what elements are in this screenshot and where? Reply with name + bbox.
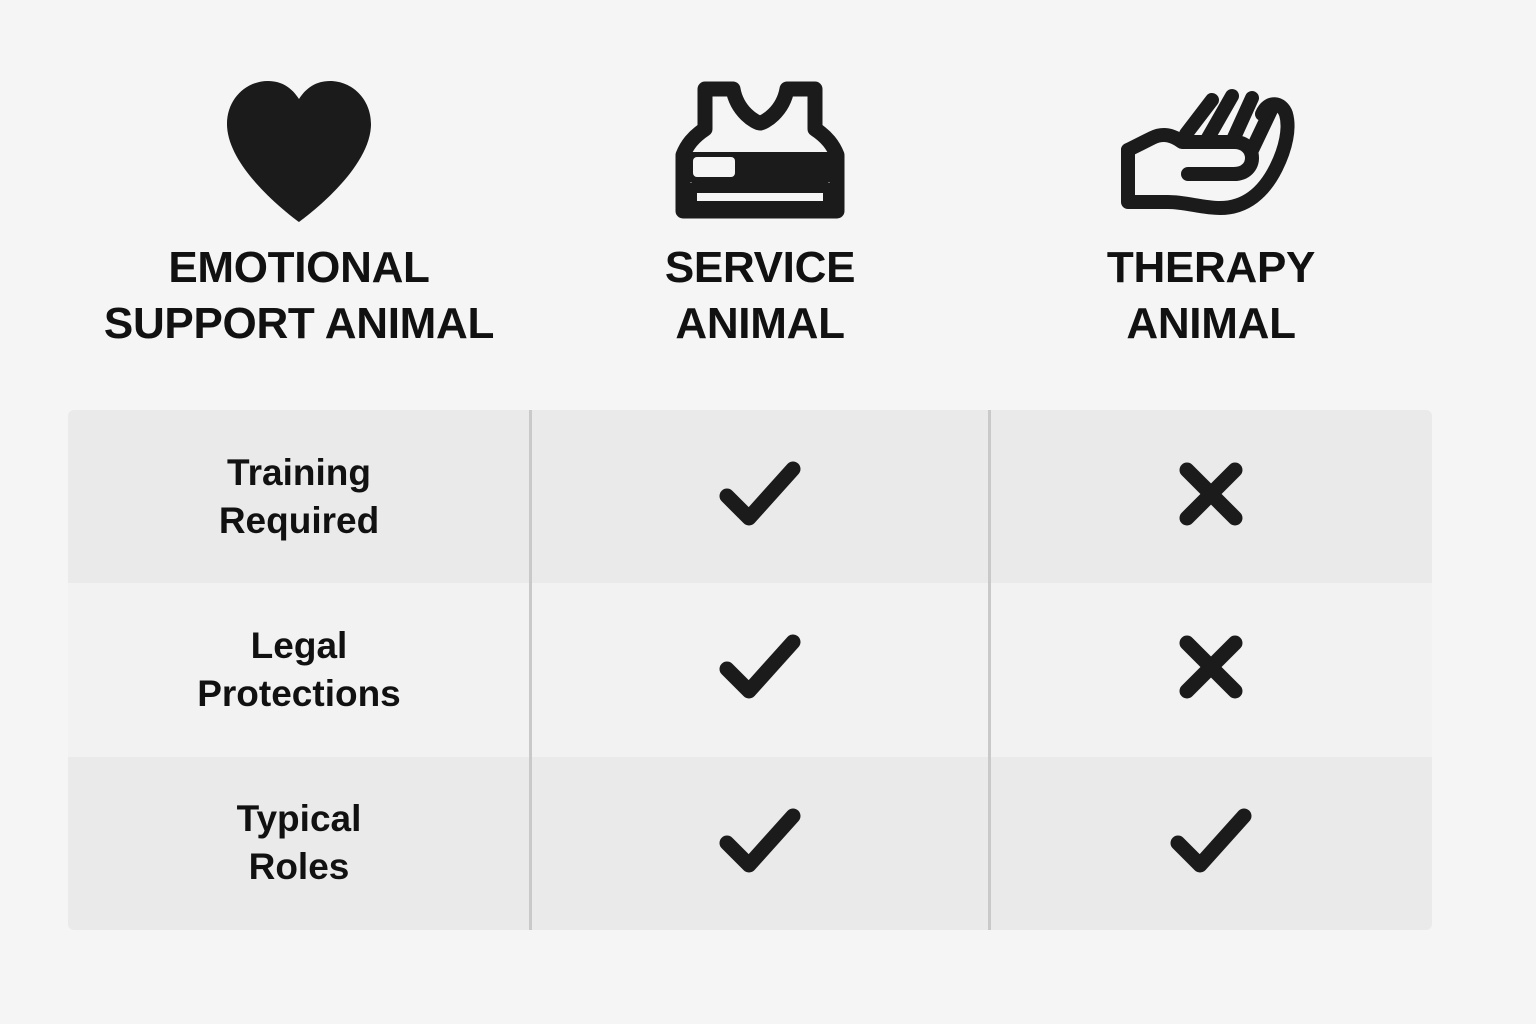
check-icon bbox=[718, 458, 802, 535]
table-row: Typical Roles bbox=[68, 757, 1432, 930]
row-label-line1: Typical bbox=[237, 795, 362, 843]
column-title-line2: SUPPORT ANIMAL bbox=[104, 296, 494, 352]
comparison-table: Training Required bbox=[68, 410, 1432, 930]
column-header-emotional-support-animal: EMOTIONAL SUPPORT ANIMAL bbox=[68, 60, 530, 390]
row-label-legal-protections: Legal Protections bbox=[68, 583, 530, 756]
table-row: Training Required bbox=[68, 410, 1432, 583]
helping-hand-icon bbox=[1116, 60, 1306, 240]
check-icon bbox=[718, 805, 802, 882]
cross-icon bbox=[1175, 631, 1247, 708]
cell-therapy-animal-training-required bbox=[990, 410, 1432, 583]
cell-service-animal-legal-protections bbox=[530, 583, 990, 756]
heart-icon bbox=[219, 60, 379, 240]
cell-therapy-animal-typical-roles bbox=[990, 757, 1432, 930]
column-title-therapy-animal: THERAPY ANIMAL bbox=[1107, 240, 1315, 353]
column-title-service-animal: SERVICE ANIMAL bbox=[665, 240, 855, 353]
check-icon bbox=[1169, 805, 1253, 882]
row-label-line2: Roles bbox=[237, 843, 362, 891]
column-header-therapy-animal: THERAPY ANIMAL bbox=[990, 60, 1432, 390]
row-label-training-required: Training Required bbox=[68, 410, 530, 583]
column-headers: EMOTIONAL SUPPORT ANIMAL SERVICE ANIMAL bbox=[68, 60, 1432, 390]
check-icon bbox=[718, 631, 802, 708]
row-label-line1: Training bbox=[219, 449, 379, 497]
column-title-line1: THERAPY bbox=[1107, 240, 1315, 296]
column-title-line2: ANIMAL bbox=[1107, 296, 1315, 352]
cell-therapy-animal-legal-protections bbox=[990, 583, 1432, 756]
column-title-line2: ANIMAL bbox=[665, 296, 855, 352]
column-title-line1: SERVICE bbox=[665, 240, 855, 296]
column-title-emotional-support-animal: EMOTIONAL SUPPORT ANIMAL bbox=[104, 240, 494, 353]
column-title-line1: EMOTIONAL bbox=[104, 240, 494, 296]
row-label-typical-roles: Typical Roles bbox=[68, 757, 530, 930]
column-divider-1 bbox=[529, 410, 532, 930]
cell-service-animal-training-required bbox=[530, 410, 990, 583]
table-row: Legal Protections bbox=[68, 583, 1432, 756]
column-header-service-animal: SERVICE ANIMAL bbox=[530, 60, 990, 390]
column-divider-2 bbox=[988, 410, 991, 930]
row-label-line2: Protections bbox=[197, 670, 401, 718]
row-label-line2: Required bbox=[219, 497, 379, 545]
row-label-line1: Legal bbox=[197, 622, 401, 670]
service-vest-icon bbox=[671, 60, 849, 240]
cell-service-animal-typical-roles bbox=[530, 757, 990, 930]
cross-icon bbox=[1175, 458, 1247, 535]
comparison-infographic: EMOTIONAL SUPPORT ANIMAL SERVICE ANIMAL bbox=[0, 0, 1536, 1024]
